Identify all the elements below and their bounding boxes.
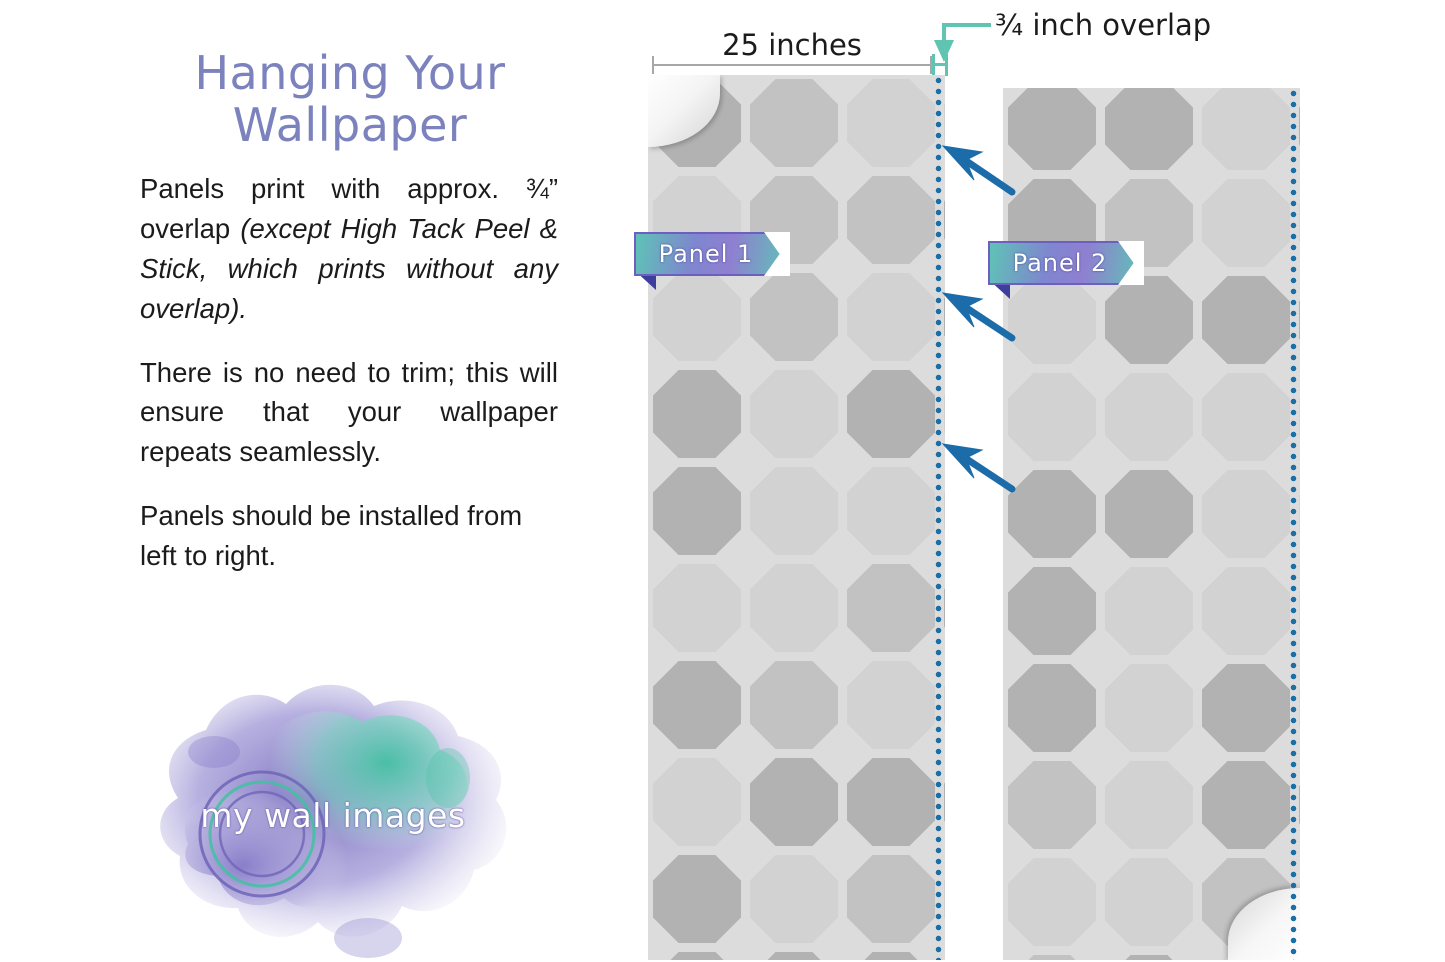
pattern-tile	[847, 855, 935, 943]
wallpaper-panel-1	[648, 75, 945, 960]
panel-2-pattern	[1003, 88, 1300, 960]
pattern-tile	[1008, 858, 1096, 946]
pattern-tile	[1105, 276, 1193, 364]
pattern-tile	[847, 370, 935, 458]
instructions-column: Hanging Your Wallpaper Panels print with…	[140, 48, 570, 600]
pattern-tile	[847, 79, 935, 167]
page-title: Hanging Your Wallpaper	[140, 48, 560, 151]
panel-1-banner-label: Panel 1	[659, 240, 754, 268]
panel-2-banner-label: Panel 2	[1013, 249, 1108, 277]
pattern-tile	[847, 661, 935, 749]
wallpaper-panel-2	[1003, 88, 1300, 960]
pattern-tile	[1202, 664, 1290, 752]
pattern-tile	[1008, 276, 1096, 364]
pattern-tile	[944, 370, 945, 458]
pattern-tile	[847, 273, 935, 361]
pattern-tile	[944, 564, 945, 652]
pattern-tile	[750, 758, 838, 846]
pattern-tile	[1105, 567, 1193, 655]
pattern-tile	[944, 758, 945, 846]
pattern-tile	[653, 661, 741, 749]
pattern-tile	[847, 758, 935, 846]
pattern-tile	[1299, 470, 1300, 558]
banner-notch-icon	[1118, 241, 1144, 285]
pattern-tile	[944, 855, 945, 943]
pattern-tile	[750, 855, 838, 943]
overlap-label: ¾ inch overlap	[995, 8, 1211, 42]
pattern-tile	[944, 661, 945, 749]
pattern-tile	[1202, 276, 1290, 364]
pattern-tile	[847, 467, 935, 555]
width-dimension-cap-left	[652, 56, 654, 74]
pattern-tile	[1105, 858, 1193, 946]
pattern-tile	[1008, 955, 1096, 960]
pattern-tile	[750, 467, 838, 555]
width-dimension-line	[652, 64, 932, 66]
paragraph-install-order-note: Panels should be installed from left to …	[140, 496, 558, 576]
diagram-canvas: Hanging Your Wallpaper Panels print with…	[0, 0, 1445, 962]
banner-notch-icon	[764, 232, 790, 276]
pattern-tile	[1299, 88, 1300, 170]
pattern-tile	[944, 176, 945, 264]
pattern-tile	[653, 952, 741, 960]
brand-logo: my wall images	[118, 648, 548, 960]
pattern-tile	[750, 661, 838, 749]
panel-1-banner: Panel 1	[634, 232, 790, 276]
pattern-tile	[1008, 761, 1096, 849]
pattern-tile	[1105, 373, 1193, 461]
pattern-tile	[1105, 664, 1193, 752]
panel-1-pattern	[648, 75, 945, 960]
pattern-tile	[1008, 470, 1096, 558]
pattern-tile	[1105, 470, 1193, 558]
pattern-tile	[1008, 373, 1096, 461]
overlap-bracket-icon	[932, 54, 948, 76]
pattern-tile	[653, 758, 741, 846]
pattern-tile	[1299, 373, 1300, 461]
pattern-tile	[944, 79, 945, 167]
pattern-tile	[1105, 88, 1193, 170]
pattern-tile	[847, 176, 935, 264]
pattern-tile	[1008, 567, 1096, 655]
width-dimension-label: 25 inches	[652, 28, 932, 62]
pattern-tile	[750, 79, 838, 167]
paragraph-overlap-note: Panels print with approx. ¾” overlap (ex…	[140, 169, 558, 329]
pattern-tile	[653, 273, 741, 361]
pattern-tile	[1299, 664, 1300, 752]
paragraph-no-trim-note: There is no need to trim; this will ensu…	[140, 353, 558, 473]
pattern-tile	[653, 467, 741, 555]
pattern-tile	[847, 564, 935, 652]
pattern-tile	[944, 952, 945, 960]
pattern-tile	[1202, 470, 1290, 558]
pattern-tile	[750, 370, 838, 458]
pattern-tile	[750, 273, 838, 361]
pattern-tile	[1299, 567, 1300, 655]
pattern-tile	[1202, 88, 1290, 170]
pattern-tile	[1202, 761, 1290, 849]
panel-2-banner: Panel 2	[988, 241, 1144, 285]
pattern-tile	[1202, 567, 1290, 655]
pattern-tile	[1299, 761, 1300, 849]
overlap-seam-line-2	[1290, 88, 1297, 960]
pattern-tile	[653, 855, 741, 943]
pattern-tile	[653, 370, 741, 458]
brand-logo-text: my wall images	[118, 796, 548, 835]
pattern-tile	[1299, 276, 1300, 364]
pattern-tile	[653, 564, 741, 652]
pattern-tile	[944, 273, 945, 361]
pattern-tile	[1008, 664, 1096, 752]
pattern-tile	[1105, 761, 1193, 849]
pattern-tile	[1105, 955, 1193, 960]
pattern-tile	[750, 564, 838, 652]
pattern-tile	[1299, 179, 1300, 267]
overlap-seam-line-1	[935, 75, 942, 960]
pattern-tile	[1202, 373, 1290, 461]
pattern-tile	[750, 952, 838, 960]
pattern-tile	[847, 952, 935, 960]
pattern-tile	[1202, 179, 1290, 267]
pattern-tile	[944, 467, 945, 555]
pattern-tile	[1008, 88, 1096, 170]
